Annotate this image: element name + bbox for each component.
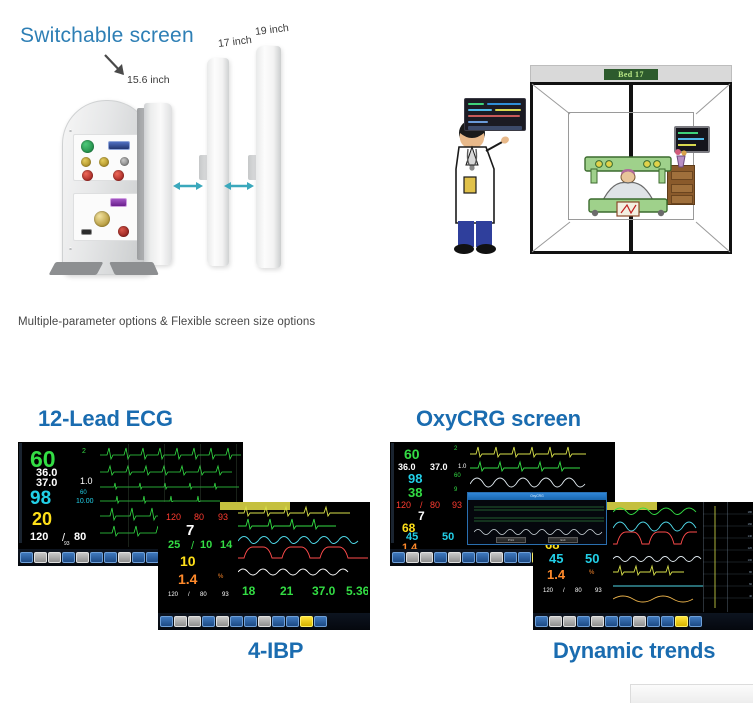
wall-mon-wave-1 (678, 132, 698, 134)
grid-line (128, 444, 129, 547)
hospital-room-section: Bed 17 (424, 60, 753, 280)
monitor-screenshot-4-ibp[interactable]: 120 80 93 7 25 / 10 14 10 1.4 % 120 / 80… (158, 502, 370, 630)
taskbar-icon-nibp[interactable] (406, 552, 419, 563)
trend-tick-3: 120 (748, 547, 752, 550)
aux-port-icon (120, 157, 129, 166)
taskbar-icon-trend[interactable] (563, 616, 576, 627)
taskbar-icon-nibp[interactable] (174, 616, 187, 627)
taskbar-icon-lead[interactable] (244, 616, 257, 627)
tablet-wave-5 (468, 115, 520, 117)
ecg-port-icon (81, 140, 94, 153)
trend-tick-2: 140 (748, 535, 752, 538)
ibp-bottom-value-1: 21 (280, 584, 293, 598)
taskbar-icon-freeze[interactable] (518, 552, 531, 563)
monitor-foot-left (49, 262, 104, 275)
panel-title-12-lead-ecg: 12-Lead ECG (38, 406, 173, 432)
taskbar-icon-setup[interactable] (230, 616, 243, 627)
taskbar-icon-trend[interactable] (188, 616, 201, 627)
ibp-waveform-area (238, 504, 368, 582)
network-port-icon (81, 229, 92, 235)
switchable-screen-title: Switchable screen (20, 24, 194, 48)
taskbar-icon-calc[interactable] (490, 552, 503, 563)
trend-tick-4: 100 (748, 559, 752, 562)
taskbar-icon-nibp[interactable] (549, 616, 562, 627)
taskbar-icon-alarm-active[interactable] (300, 616, 313, 627)
monitor-screen-slab (144, 103, 172, 265)
taskbar-icon-review[interactable] (132, 552, 145, 563)
taskbar-icon-print[interactable] (591, 616, 604, 627)
trend-tick-6: 60 (749, 583, 752, 586)
connector-panel-upper (73, 134, 141, 181)
size-label-17-inch: 17 inch (217, 34, 252, 50)
oxycrg-trend-traces (474, 502, 604, 538)
tablet-toolbar (468, 126, 522, 130)
taskbar-icon-setup[interactable] (605, 616, 618, 627)
switchable-screen-caption: Multiple-parameter options & Flexible sc… (18, 316, 315, 328)
panel-title-4-ibp: 4-IBP (248, 638, 303, 664)
ecg-vitals-column: 60 2 36.0 37.0 1.0 98 60 10.00 20 120 / … (20, 444, 98, 542)
wall-mon-wave-2 (678, 138, 704, 140)
oxycrg-traces (470, 444, 613, 490)
ibp-traces (238, 504, 368, 582)
taskbar-icon-print[interactable] (448, 552, 461, 563)
screen-slab-17-inch (207, 58, 229, 266)
oxycrg-dialog-exit-button[interactable]: Exit (548, 537, 578, 543)
switchable-screen-section: Switchable screen 17 inch 19 inch 15.6 i… (0, 0, 380, 350)
trend-tick-7: 40 (749, 595, 752, 598)
taskbar-icon-setup[interactable] (90, 552, 103, 563)
tablet-wave-6 (468, 121, 488, 123)
taskbar-icon-freeze[interactable] (286, 616, 299, 627)
hospital-bed-illustration (579, 155, 677, 217)
taskbar-icon-alarm-active[interactable] (675, 616, 688, 627)
ibp-vitals-column: 120 80 93 7 25 / 10 14 10 1.4 % 120 / 80… (160, 504, 238, 608)
screen-slab-19-inch (256, 46, 281, 268)
tablet-wave-3 (468, 109, 492, 111)
trends-taskbar[interactable] (533, 613, 753, 630)
doctor-illustration (442, 115, 522, 255)
ibp-bottom-values-row: 18 21 37.0 5.36 (238, 580, 368, 608)
taskbar-icon-calc[interactable] (633, 616, 646, 627)
screw (69, 129, 72, 132)
taskbar-icon-patient[interactable] (20, 552, 33, 563)
connector-panel-lower (73, 193, 141, 241)
oxycrg-dialog-print-button[interactable]: Print (496, 537, 526, 543)
trends-traces (613, 504, 703, 608)
oxycrg-vitals-column: 60 2 36.0 37.0 1.0 98 60 38 9 120 / 80 9… (392, 444, 470, 542)
tablet-wave-4 (495, 109, 521, 111)
trend-tick-0: 180 (748, 511, 752, 514)
taskbar-icon-main[interactable] (314, 616, 327, 627)
taskbar-icon-alarm[interactable] (202, 616, 215, 627)
oxycrg-dialog[interactable]: OxyCRG Print Exit (467, 492, 607, 545)
taskbar-icon-freeze[interactable] (661, 616, 674, 627)
room-header-bar: Bed 17 (530, 65, 732, 83)
taskbar-icon-patient[interactable] (160, 616, 173, 627)
size-label-15-6-inch: 15.6 inch (127, 74, 170, 86)
taskbar-icon-trend[interactable] (48, 552, 61, 563)
oxycrg-waveform-area (470, 444, 613, 490)
monitor-foot-right (109, 262, 159, 275)
panel-title-dynamic-trends: Dynamic trends (553, 638, 715, 664)
taskbar-icon-main[interactable] (689, 616, 702, 627)
taskbar-icon-review[interactable] (504, 552, 517, 563)
size-label-19-inch: 19 inch (254, 22, 289, 38)
taskbar-icon-lead[interactable] (619, 616, 632, 627)
trend-tick-1: 160 (748, 523, 752, 526)
ibp-bottom-value-0: 18 (242, 584, 255, 598)
taskbar-icon-print[interactable] (76, 552, 89, 563)
taskbar-icon-setup[interactable] (462, 552, 475, 563)
tablet-wave-2 (487, 103, 521, 105)
taskbar-icon-review[interactable] (647, 616, 660, 627)
nibp-port-icon (118, 226, 129, 237)
taskbar-icon-calc[interactable] (258, 616, 271, 627)
ibp-bottom-value-3: 5.36 (346, 584, 368, 598)
oxycrg-dialog-title: OxyCRG (468, 493, 606, 500)
taskbar-icon-alarm[interactable] (434, 552, 447, 563)
taskbar-icon-patient[interactable] (535, 616, 548, 627)
taskbar-icon-patient[interactable] (392, 552, 405, 563)
swap-arrow-icon-right (224, 180, 254, 192)
ibp-taskbar[interactable] (158, 613, 370, 630)
spo2-port-icon (94, 211, 110, 227)
temp1-port-icon (81, 157, 91, 167)
ibp1-port-icon (82, 170, 93, 181)
bottom-right-corner-panel (630, 684, 753, 703)
taskbar-icon-alarm[interactable] (577, 616, 590, 627)
panel-title-oxycrg: OxyCRG screen (416, 406, 581, 432)
tablet-wave-1 (468, 103, 484, 105)
handheld-monitor-device[interactable] (464, 98, 526, 131)
taskbar-icon-lead[interactable] (104, 552, 117, 563)
taskbar-icon-trend[interactable] (420, 552, 433, 563)
taskbar-icon-lead[interactable] (476, 552, 489, 563)
trends-waveform-area (613, 504, 703, 608)
trend-tick-5: 80 (749, 571, 752, 574)
taskbar-icon-alarm[interactable] (62, 552, 75, 563)
temp2-port-icon (99, 157, 109, 167)
pointer-arrow-icon (103, 53, 131, 81)
bed-number-badge: Bed 17 (604, 69, 658, 80)
taskbar-icon-review[interactable] (272, 616, 285, 627)
taskbar-icon-nibp[interactable] (34, 552, 47, 563)
screw (69, 247, 72, 250)
ecg-resp-value: 20 (32, 510, 110, 528)
wall-mon-wave-3 (678, 144, 696, 146)
ibp-bottom-value-2: 37.0 (312, 584, 335, 598)
trends-grid-panel: 180 160 140 120 100 80 60 40 (703, 502, 753, 612)
taskbar-icon-calc[interactable] (118, 552, 131, 563)
co2-port-icon (110, 198, 127, 207)
taskbar-icon-print[interactable] (216, 616, 229, 627)
ibp2-port-icon (113, 170, 124, 181)
vga-port-icon (108, 141, 130, 150)
swap-arrow-icon-left (173, 180, 203, 192)
